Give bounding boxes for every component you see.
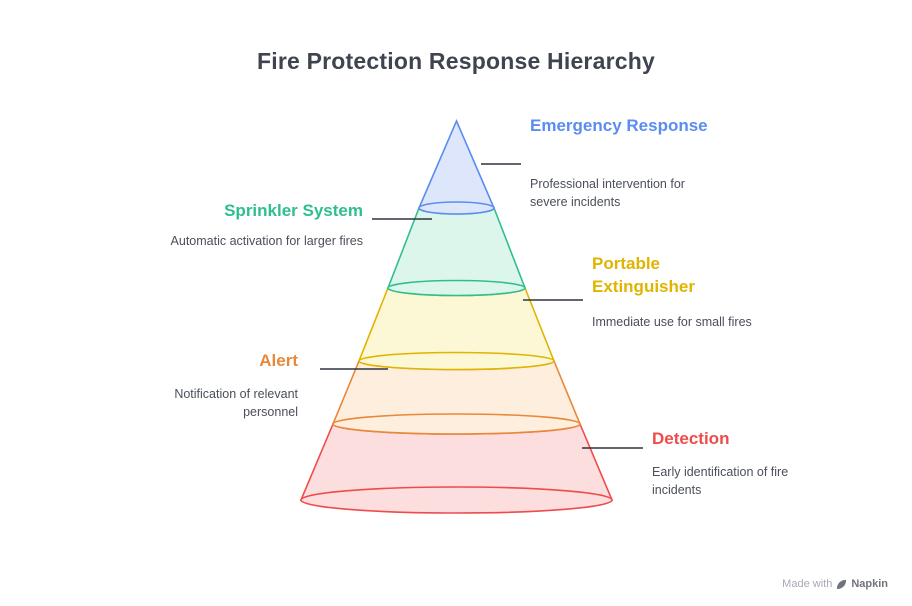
label-alert: Alert [100, 349, 298, 372]
label-sprinkler-system: Sprinkler System [150, 199, 363, 222]
pyramid-graphic [0, 0, 912, 606]
pyramid-level-sprinkler-system[interactable] [388, 202, 525, 296]
description-portable-extinguisher: Immediate use for small fires [592, 313, 762, 331]
watermark: Made with Napkin [782, 578, 888, 590]
watermark-brand: Napkin [851, 578, 888, 590]
watermark-prefix: Made with [782, 578, 832, 590]
description-sprinkler-system: Automatic activation for larger fires [165, 232, 363, 250]
label-emergency-response: Emergency Response [530, 114, 730, 137]
diagram-canvas: Fire Protection Response Hierarchy [0, 0, 912, 606]
description-alert: Notification of relevant personnel [118, 385, 298, 421]
description-emergency-response: Professional intervention for severe inc… [530, 175, 715, 211]
label-portable-extinguisher: Portable Extinguisher [592, 252, 767, 298]
label-detection: Detection [652, 427, 852, 450]
description-detection: Early identification of fire incidents [652, 463, 832, 499]
pyramid-level-emergency-response[interactable] [419, 121, 494, 214]
leaf-icon [836, 579, 847, 590]
